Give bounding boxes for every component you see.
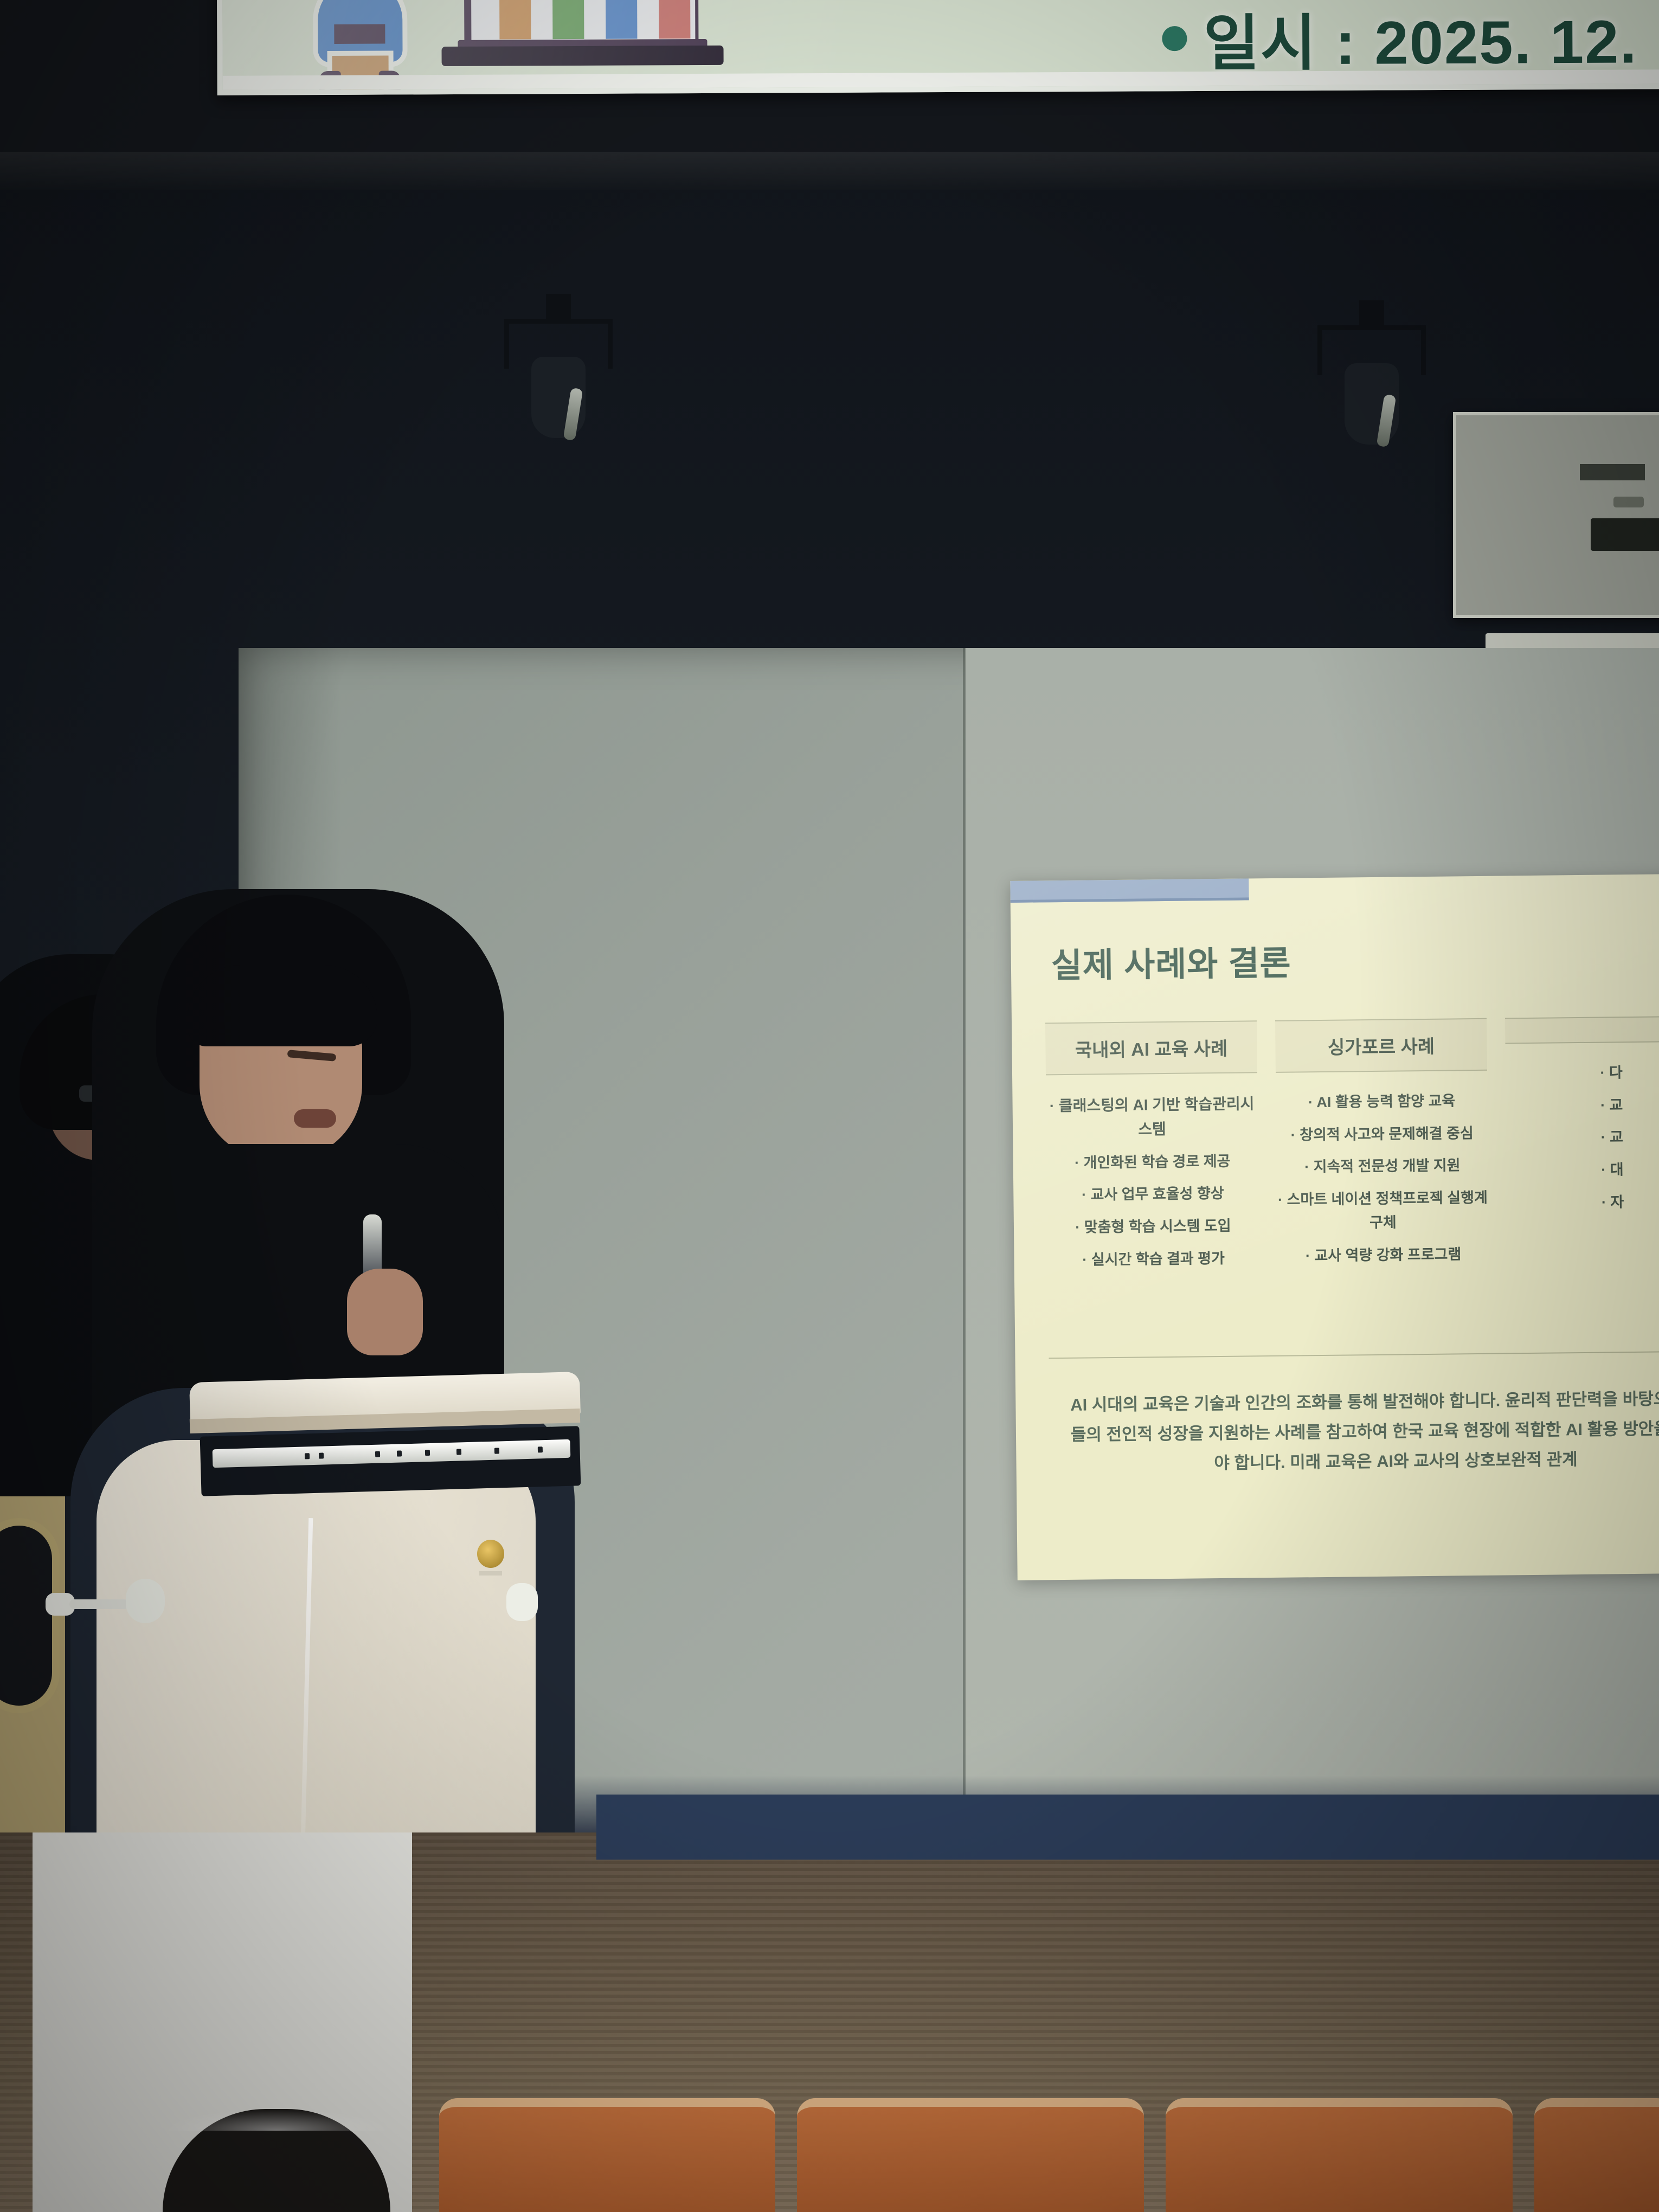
lectern-side-cutout — [0, 1518, 60, 1713]
screenshot-root: 일시 : 2025. 12. 실제 사례와 결론 — [0, 0, 1659, 2212]
auditorium-seat[interactable] — [439, 2098, 775, 2212]
slide-column-domestic: 국내외 AI 교육 사례 클래스팅의 AI 기반 학습관리시스템 개인화된 학습… — [1045, 1020, 1259, 1281]
event-banner: 일시 : 2025. 12. — [216, 0, 1659, 95]
slide-conclusion-text: AI 시대의 교육은 기술과 인간의 조화를 통해 발전해야 합니다. 윤리적 … — [1064, 1383, 1659, 1480]
spotlight-yoke-right — [608, 319, 613, 369]
rail-dot — [456, 1449, 461, 1455]
spotlight-yoke-right-2 — [1421, 325, 1426, 375]
lectern-clip-right — [506, 1583, 538, 1621]
presentation-slide: 실제 사례와 결론 국내외 AI 교육 사례 클래스팅의 AI 기반 학습관리시… — [1010, 873, 1659, 1580]
slide-column-body: AI 활용 능력 함양 교육 창의적 사고와 문제해결 중심 지속적 전문성 개… — [1276, 1071, 1489, 1268]
spotlight-yoke-top — [504, 319, 613, 324]
auditorium-seat[interactable] — [797, 2098, 1144, 2212]
wall-mounted-projector-unit — [1453, 412, 1659, 618]
stage-base-band — [596, 1795, 1659, 1860]
spotlight-yoke-top-2 — [1317, 325, 1426, 330]
slide-comparison-table: 국내외 AI 교육 사례 클래스팅의 AI 기반 학습관리시스템 개인화된 학습… — [1045, 1015, 1659, 1281]
auditorium-seat[interactable] — [1534, 2098, 1659, 2212]
slide-column-header — [1505, 1015, 1659, 1044]
list-item: 교 — [1506, 1125, 1659, 1151]
list-item: 다 — [1506, 1060, 1659, 1086]
projector-lens-icon — [1580, 464, 1645, 480]
slide-column-body: 클래스팅의 AI 기반 학습관리시스템 개인화된 학습 경로 제공 교사 업무 … — [1046, 1073, 1259, 1272]
wall-panel-shelf — [1486, 633, 1659, 650]
list-item: 자 — [1507, 1189, 1659, 1216]
projection-screen-seam — [963, 648, 966, 1841]
rail-dot — [494, 1448, 499, 1454]
projector-knob — [1613, 497, 1644, 507]
slide-column-header: 싱가포르 사례 — [1275, 1018, 1487, 1073]
slide-title: 실제 사례와 결론 — [1051, 936, 1291, 987]
student-front-mouth — [294, 1109, 336, 1128]
student-front-hand — [347, 1269, 423, 1355]
rail-dot — [375, 1451, 380, 1457]
list-item: 맞춤형 학습 시스템 도입 — [1047, 1214, 1259, 1240]
slide-column-third-cropped: 다 교 교 대 자 — [1505, 1015, 1659, 1276]
slide-divider — [1049, 1351, 1659, 1359]
rail-dot — [397, 1450, 402, 1456]
rail-dot — [305, 1453, 310, 1459]
list-item: 교사 업무 효율성 향상 — [1047, 1182, 1258, 1208]
track-spotlight-icon — [504, 319, 613, 443]
list-item: 개인화된 학습 경로 제공 — [1047, 1149, 1258, 1175]
spotlight-yoke-left — [504, 319, 509, 369]
rail-dot — [538, 1446, 543, 1452]
list-item: 교 — [1506, 1092, 1659, 1118]
wall-upper-strip — [0, 152, 1659, 190]
list-item: 스마트 네이션 정책프로젝 실행계 구체 — [1277, 1186, 1489, 1236]
list-item: 실시간 학습 결과 평가 — [1047, 1246, 1259, 1272]
list-item: 지속적 전문성 개발 지원 — [1277, 1154, 1488, 1180]
list-item: 교사 역량 강화 프로그램 — [1277, 1242, 1489, 1268]
rail-dot — [425, 1450, 430, 1456]
student-front-fringe — [188, 965, 377, 1046]
auditorium-seat[interactable] — [1166, 2098, 1513, 2212]
slide-column-header: 국내외 AI 교육 사례 — [1045, 1020, 1257, 1075]
lectern-strap — [69, 1599, 129, 1609]
slide-column-body: 다 교 교 대 자 — [1505, 1041, 1659, 1216]
slide-accent-bar — [1010, 878, 1249, 903]
rail-dot — [319, 1452, 324, 1458]
lectern-knob — [126, 1579, 165, 1623]
list-item: AI 활용 능력 함양 교육 — [1276, 1089, 1487, 1115]
projector-vent-grill — [1591, 518, 1659, 551]
track-spotlight-icon-2 — [1317, 325, 1426, 450]
list-item: 창의적 사고와 문제해결 중심 — [1276, 1122, 1488, 1148]
spotlight-yoke-left-2 — [1317, 325, 1322, 375]
slide-column-singapore: 싱가포르 사례 AI 활용 능력 함양 교육 창의적 사고와 문제해결 중심 지… — [1275, 1018, 1489, 1279]
list-item: 대 — [1507, 1158, 1659, 1184]
list-item: 클래스팅의 AI 기반 학습관리시스템 — [1046, 1091, 1258, 1143]
seated-audience-hair-highlight — [163, 2109, 390, 2131]
gold-emblem-icon — [477, 1540, 504, 1568]
